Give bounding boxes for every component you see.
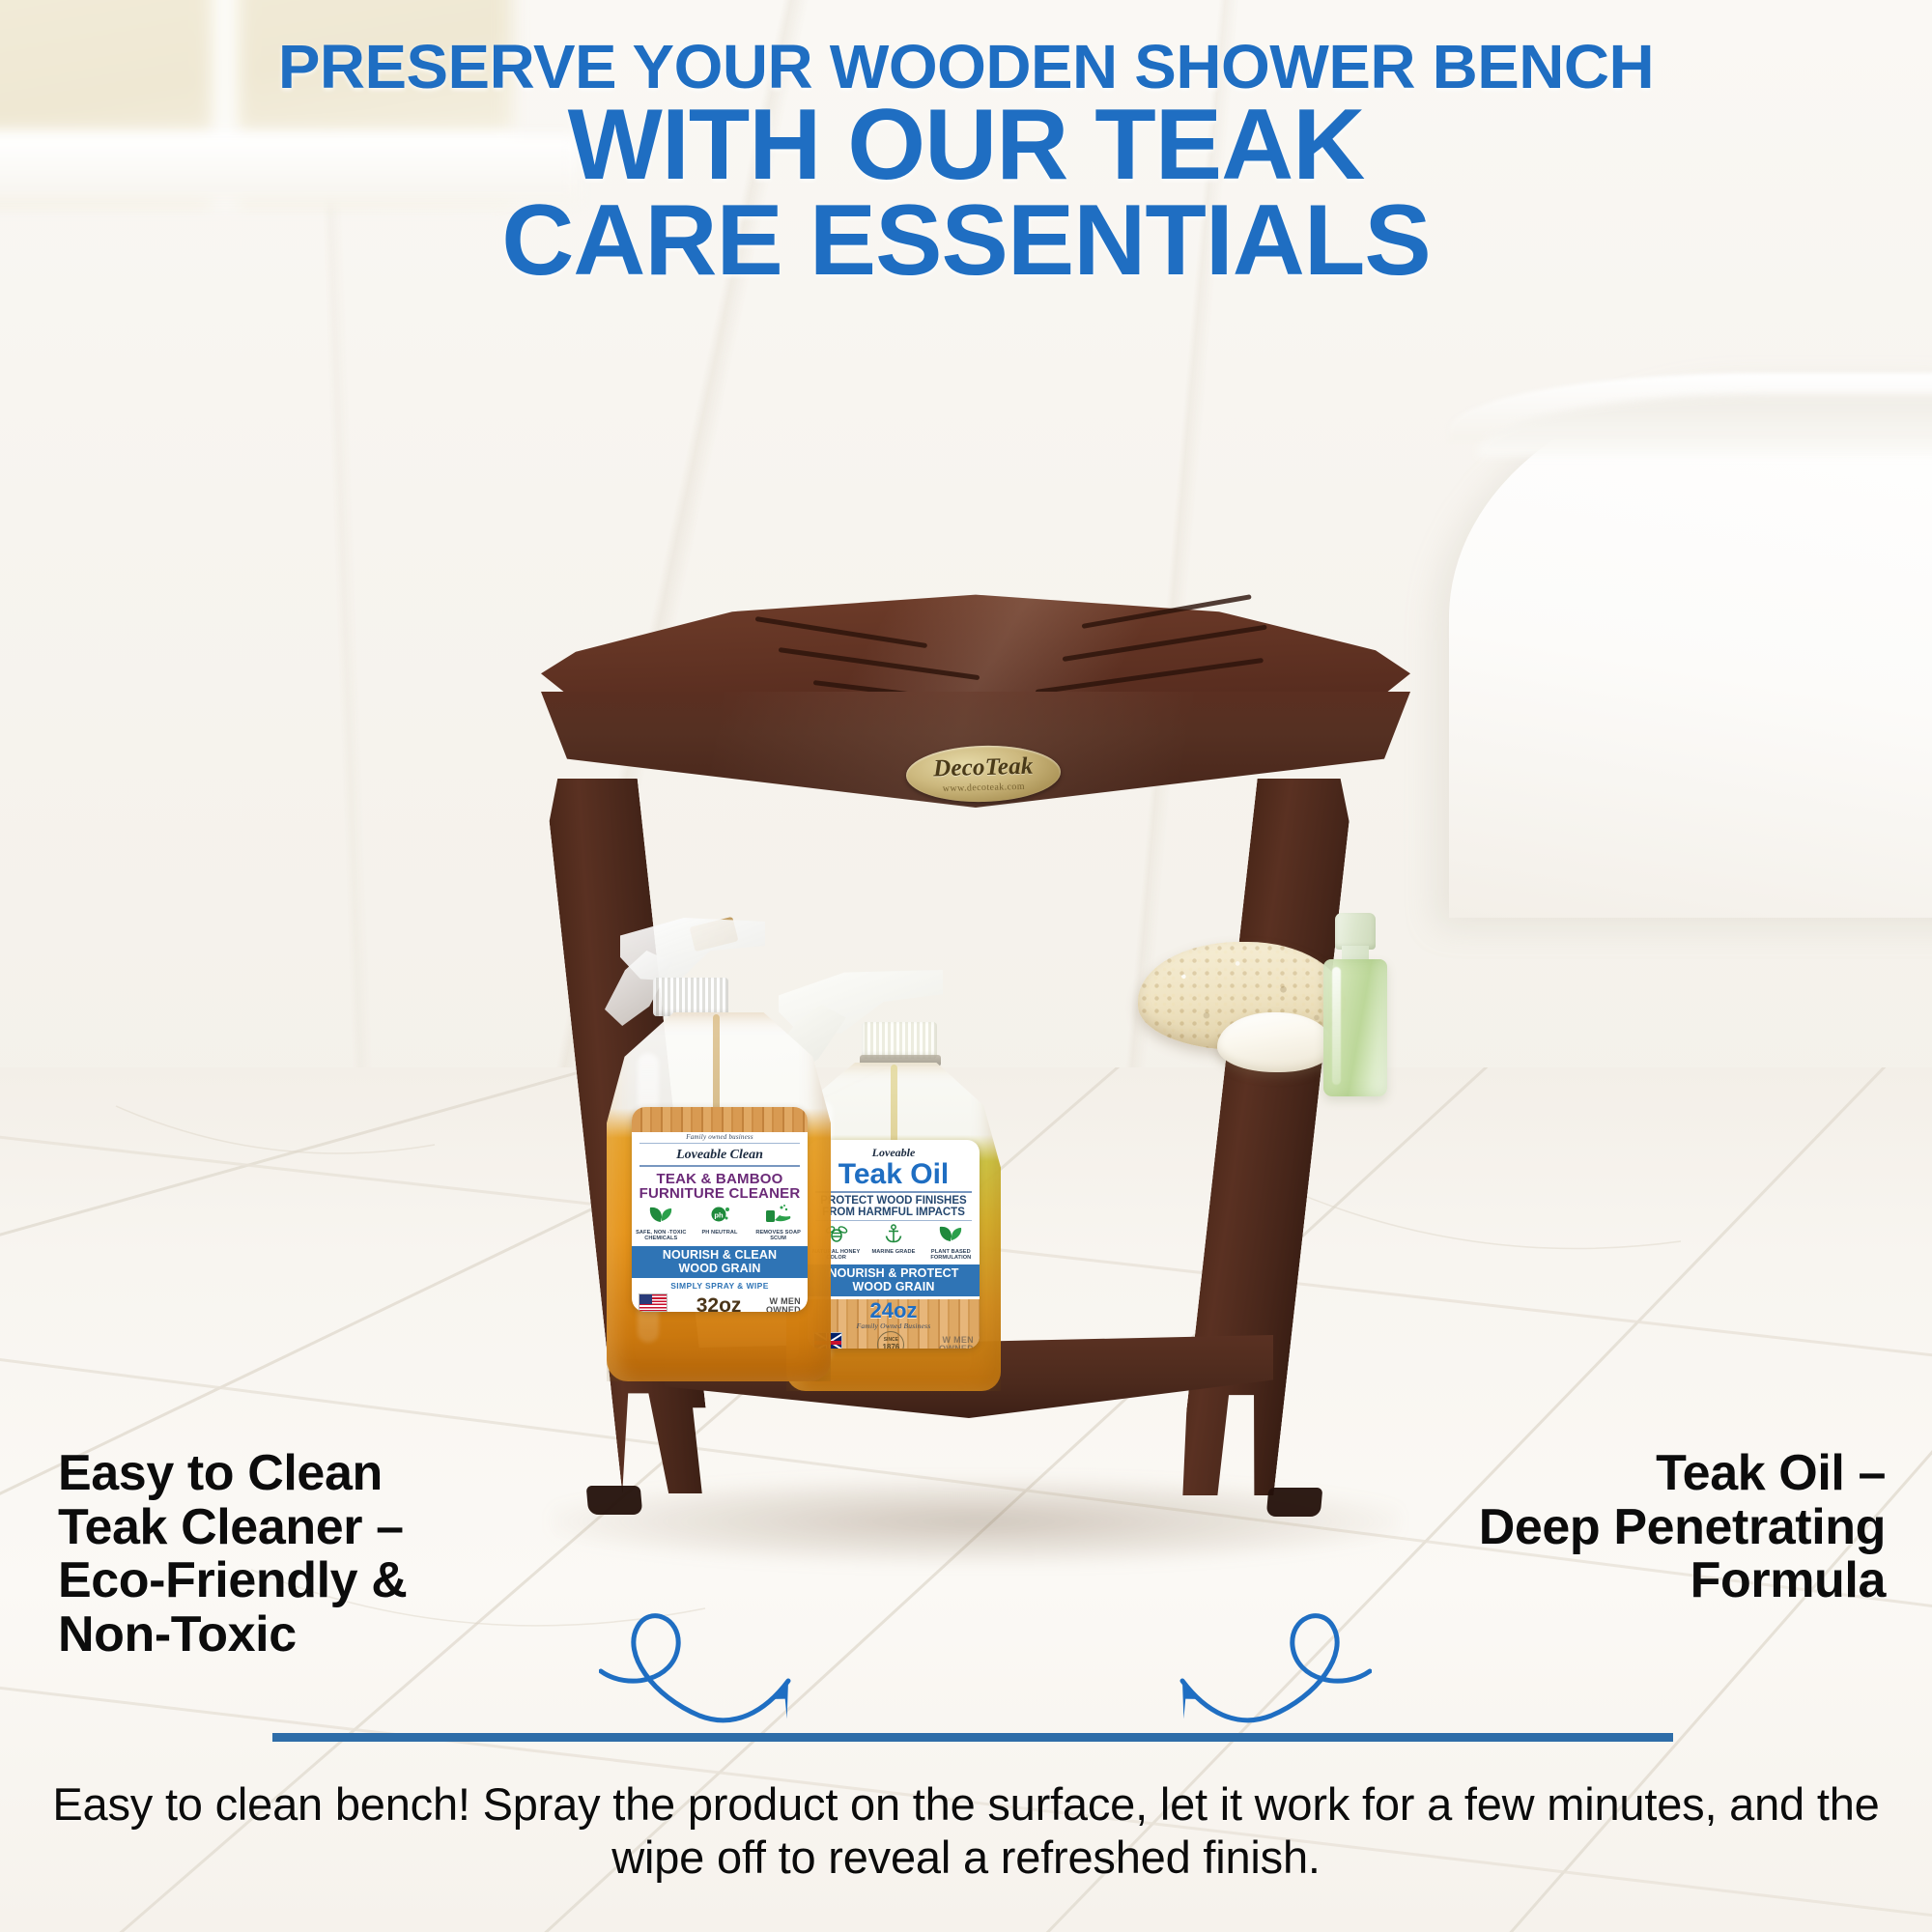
teak-cleaner-spray-bottle: Family owned business Loveable Clean TEA… [599,918,850,1381]
leaf-icon [648,1205,673,1224]
cleaner-tagline: SIMPLY SPRAY & WIPE [632,1281,808,1291]
benefit-caption: SAFE, NON -TOXIC CHEMICALS [632,1230,690,1242]
label-rule [639,1165,800,1167]
women-owned-line2: OWNED [939,1345,974,1349]
cleaner-claim-band: NOURISH & CLEAN WOOD GRAIN [632,1246,808,1278]
hand-spray-icon [765,1205,792,1224]
oil-bottle-collar [862,1022,937,1059]
gel-bottle-cap [1335,913,1376,950]
oil-women-owned: W MEN OWNED [939,1336,974,1349]
gel-bottle-highlight [1332,967,1341,1085]
cleaner-volume: 32oz [696,1294,742,1312]
headline-line-3: CARE ESSENTIALS [0,193,1932,289]
cleaner-benefit-icons: SAFE, NON -TOXIC CHEMICALS ph PH NEUTRAL [632,1205,808,1242]
label-rule [639,1143,800,1144]
plaque-brand-text: DecoTeak [933,753,1034,781]
cleaner-title-line1: TEAK & BAMBOO [632,1172,808,1186]
benefit-caption: MARINE GRADE [866,1249,923,1255]
cleaner-title-line2: FURNITURE CLEANER [632,1186,808,1201]
cleaner-brand-script: Loveable Clean [632,1148,808,1163]
benefit-cell: SAFE, NON -TOXIC CHEMICALS [632,1205,690,1242]
benefit-cell: ph PH NEUTRAL [691,1205,749,1236]
benefit-cell: PLANT BASED FORMULATION [923,1224,980,1262]
leaf-icon [937,1224,964,1243]
us-flag-icon [639,1293,668,1312]
since-badge: SINCE 1876 [877,1331,904,1349]
benefit-cell: REMOVES SOAP SCUM [750,1205,808,1242]
ph-circle-icon: ph [709,1205,730,1224]
horizontal-divider [272,1733,1673,1742]
cleaner-product-label: Family owned business Loveable Clean TEA… [632,1107,808,1312]
benefit-caption: PH NEUTRAL [691,1230,749,1236]
headline: PRESERVE YOUR WOODEN SHOWER BENCH WITH O… [0,37,1932,288]
caption-left: Easy to Clean Teak Cleaner – Eco-Friendl… [58,1447,599,1662]
green-gel-bottle [1323,913,1387,1096]
cleaner-bottle-collar [653,978,728,1016]
soap-bar [1217,1012,1333,1072]
headline-line-1: PRESERVE YOUR WOODEN SHOWER BENCH [0,37,1932,98]
headline-line-2: WITH OUR TEAK [0,98,1932,193]
footnote-text: Easy to clean bench! Spray the product o… [48,1777,1884,1885]
plaque-url-text: www.decoteak.com [943,781,1025,793]
cleaner-family-script: Family owned business [632,1133,808,1141]
since-year: 1876 [882,1344,899,1349]
benefit-caption: PLANT BASED FORMULATION [923,1249,980,1262]
women-owned-line2: OWNED [766,1306,801,1312]
label-wood-strip [632,1107,808,1132]
benefit-caption: REMOVES SOAP SCUM [750,1230,808,1242]
cleaner-label-footer: MADE IN USA 32oz W MEN OWNED [632,1293,808,1312]
svg-text:ph: ph [714,1210,724,1219]
cleaner-women-owned: W MEN OWNED [766,1297,801,1312]
cleaner-band-line1: NOURISH & CLEAN [634,1249,806,1263]
caption-right: Teak Oil – Deep Penetrating Formula [1229,1447,1886,1608]
benefit-cell: MARINE GRADE [866,1224,923,1255]
cleaner-band-line2: WOOD GRAIN [634,1263,806,1276]
anchor-icon [883,1224,904,1243]
cleaner-origin-block: MADE IN USA [639,1293,671,1312]
poster-canvas: DecoTeak www.decoteak.com Family owned b… [0,0,1932,1932]
